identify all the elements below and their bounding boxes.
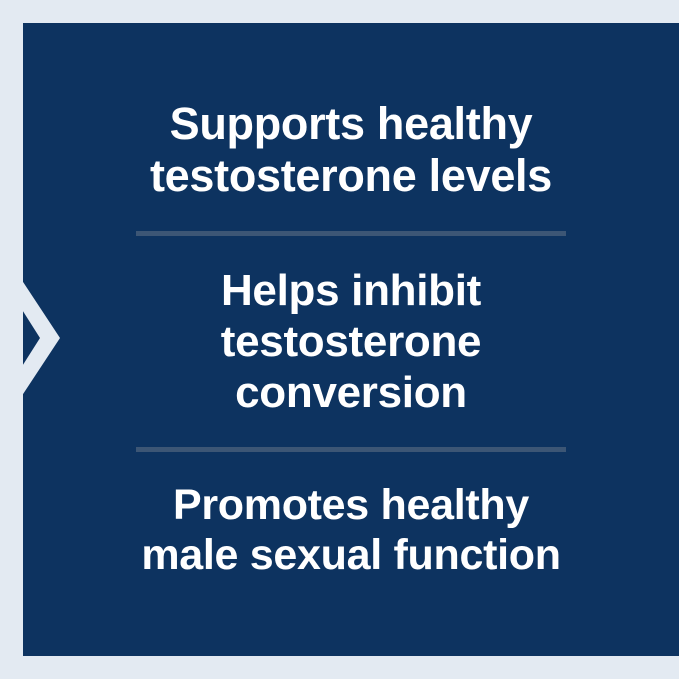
benefit-3-line-2: male sexual function: [63, 531, 639, 581]
divider-1: [136, 231, 566, 236]
benefit-1-line-2: testosterone levels: [63, 150, 639, 202]
benefit-1-line-1: Supports healthy: [63, 98, 639, 150]
benefit-2-line-3: conversion: [63, 367, 639, 418]
benefit-2-line-2: testosterone: [63, 316, 639, 367]
benefit-item-2: Helps inhibit testosterone conversion: [63, 265, 639, 418]
benefit-item-3: Promotes healthy male sexual function: [63, 481, 639, 581]
benefits-graphic: Supports healthy testosterone levels Hel…: [0, 0, 679, 679]
divider-2: [136, 447, 566, 452]
benefit-2-line-1: Helps inhibit: [63, 265, 639, 316]
benefit-3-line-1: Promotes healthy: [63, 481, 639, 531]
benefit-item-1: Supports healthy testosterone levels: [63, 98, 639, 202]
benefits-list: Supports healthy testosterone levels Hel…: [23, 23, 679, 656]
